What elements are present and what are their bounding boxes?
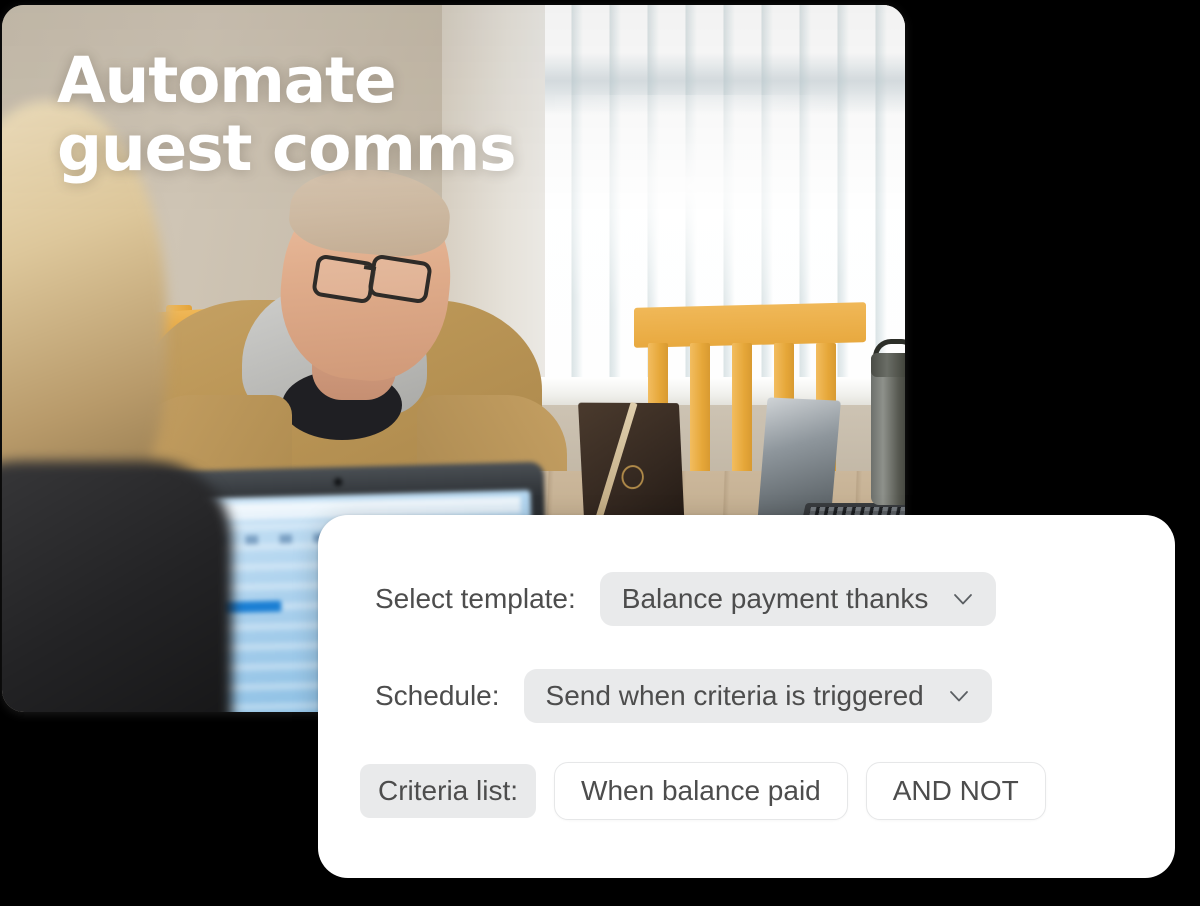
person-foreground-blurred: [2, 101, 192, 712]
automation-settings-card: Select template: Balance payment thanks …: [318, 515, 1175, 878]
criteria-chip-and-not[interactable]: AND NOT: [866, 762, 1046, 820]
row-schedule: Schedule: Send when criteria is triggere…: [375, 669, 992, 723]
schedule-label: Schedule:: [375, 680, 500, 712]
row-select-template: Select template: Balance payment thanks: [375, 572, 996, 626]
chair-slat: [732, 343, 752, 483]
row-criteria-list: Criteria list: When balance paid AND NOT: [360, 762, 1046, 820]
criteria-list-label: Criteria list:: [360, 764, 536, 818]
person-seated-man: [162, 180, 522, 510]
page-title: Automate guest comms: [57, 47, 515, 183]
schedule-dropdown[interactable]: Send when criteria is triggered: [524, 669, 992, 723]
chair-right-top-rail: [634, 302, 866, 348]
chevron-down-icon: [950, 586, 976, 612]
select-template-label: Select template:: [375, 583, 576, 615]
schedule-dropdown-value: Send when criteria is triggered: [546, 680, 924, 712]
chair-slat: [690, 343, 710, 483]
template-dropdown-value: Balance payment thanks: [622, 583, 929, 615]
dell-logo-icon: [621, 464, 644, 490]
template-dropdown[interactable]: Balance payment thanks: [600, 572, 997, 626]
tumbler: [871, 353, 905, 505]
chevron-down-icon: [946, 683, 972, 709]
tumbler-lid: [871, 353, 905, 377]
window-glow: [555, 95, 895, 325]
criteria-chip-when-balance-paid[interactable]: When balance paid: [554, 762, 848, 820]
fg-person-body: [2, 461, 232, 712]
